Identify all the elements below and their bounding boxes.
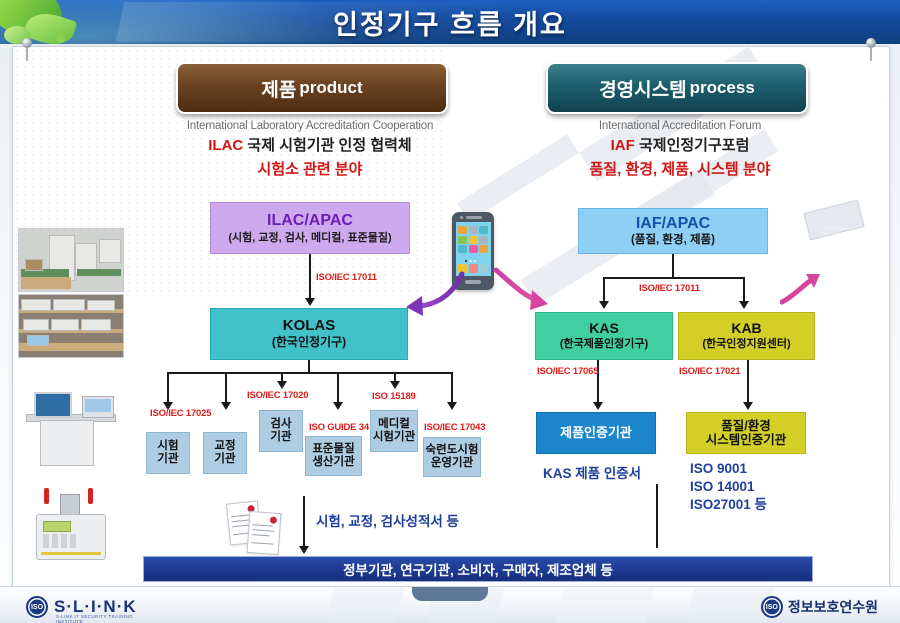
stakeholders-bar-text: 정부기관, 연구기관, 소비자, 구매자, 제조업체 등 (343, 559, 613, 579)
node-ilac-apac: ILAC/APAC (시험, 교정, 검사, 메디컬, 표준물질) (210, 202, 410, 254)
standard-label-17065: ISO/IEC 17065 (537, 366, 598, 377)
node-system-cert-title2: 시스템인증기관 (706, 433, 787, 447)
connector-branch-4 (337, 372, 339, 405)
caption-right-en: International Accreditation Forum (520, 120, 840, 132)
leaf-node-medical-lab: 메디컬 시험기관 (370, 410, 418, 452)
leaf-node-rm-producer: 표준물질 생산기관 (305, 436, 362, 476)
iso-list-item-1: ISO 9001 (690, 460, 767, 478)
node-kas-sub: (한국제품인정기구) (560, 338, 648, 351)
pill-product-en: product (299, 78, 362, 98)
footer-logo-subtext: S-LINK IT SECURITY TRAINING INSTITUTE (56, 614, 137, 623)
arrowhead (221, 402, 231, 410)
caption-right-red: 품질, 환경, 제품, 시스템 분야 (520, 158, 840, 179)
connector-ilac-kolas (309, 254, 311, 300)
leaf-1-line1: 시험 (157, 440, 178, 452)
title-banner: 인정기구 흐름 개요 (0, 0, 900, 44)
connector-branch-6 (451, 372, 453, 405)
pill-process-kr: 경영시스템 (599, 75, 686, 102)
arrowhead (593, 402, 603, 410)
node-iaf-apac: IAF/APAC (품질, 환경, 제품) (578, 208, 768, 254)
leaf-2-line1: 교정 (214, 440, 235, 452)
page-title: 인정기구 흐름 개요 (0, 0, 900, 44)
connector-branch-2 (225, 372, 227, 405)
leaf-5-line2: 시험기관 (373, 431, 415, 443)
caption-right-abbr: IAF (611, 137, 635, 154)
arrowhead (447, 402, 457, 410)
note-reports: 시험, 교정, 검사성적서 등 (316, 510, 459, 530)
instrument-photo-4 (28, 488, 112, 560)
arrowhead (390, 381, 400, 389)
instrument-photo-3 (22, 390, 118, 468)
arrowhead (599, 301, 609, 309)
standard-label-17021: ISO/IEC 17021 (679, 366, 740, 377)
building-icon (852, 244, 874, 310)
slide-root: 인정기구 흐름 개요 제품 product 경영시스템 process Inte… (0, 0, 900, 623)
node-system-cert-title: 품질/환경 (721, 419, 770, 433)
leaf-4-line2: 생산기관 (312, 456, 354, 468)
connector-reports-to-stakeholders (303, 496, 305, 548)
header-pill-process: 경영시스템 process (546, 62, 808, 114)
leaf-2-line2: 기관 (214, 453, 235, 465)
arrow-to-buildings-icon (780, 272, 830, 312)
standard-label-17025: ISO/IEC 17025 (150, 408, 211, 419)
node-iaf-apac-sub: (품질, 환경, 제품) (631, 234, 715, 247)
iso-list-item-2: ISO 14001 (690, 478, 767, 496)
phone-app-grid (458, 226, 488, 253)
pill-process-en: process (690, 78, 755, 98)
caption-right-kr: IAF 국제인정기구포럼 (520, 134, 840, 155)
node-kab-sub: (한국인정지원센터) (702, 338, 790, 351)
pin-icon (866, 38, 876, 60)
node-kas-title: KAS (589, 321, 619, 337)
note-kas-certificate: KAS 제품 인증서 (543, 462, 641, 482)
caption-left: International Laboratory Accreditation C… (150, 120, 470, 179)
leaf-node-inspection-body: 검사 기관 (259, 410, 303, 452)
caption-left-kr-text: 국제 시험기관 인정 협력체 (247, 137, 411, 154)
connector-iaf-kab (743, 277, 745, 303)
node-kolas-title: KOLAS (283, 318, 336, 335)
connector-cert-to-stakeholders (656, 484, 658, 548)
leaf-4-line1: 표준물질 (312, 443, 354, 455)
standard-label-17011-right: ISO/IEC 17011 (639, 283, 700, 294)
leaf-6-line2: 운영기관 (431, 457, 473, 469)
leaf-node-calibration-lab: 교정 기관 (203, 432, 247, 474)
iso-list-item-3: ISO27001 등 (690, 496, 767, 514)
connector-iaf-trunk (672, 254, 674, 278)
caption-right-kr-text: 국제인정기구포럼 (639, 137, 749, 154)
node-ilac-apac-sub: (시험, 교정, 검사, 메디컬, 표준물질) (228, 232, 391, 245)
phone-page-dots (465, 260, 477, 263)
footer-logo-slink: ISO S·L·I·N·K S-LINK IT SECURITY TRAININ… (26, 596, 137, 618)
connector-branch-1 (167, 372, 169, 405)
leaf-3-line1: 검사 (270, 418, 291, 430)
arrow-phone-to-kolas-icon (400, 270, 470, 330)
node-kab-title: KAB (731, 321, 761, 337)
standard-label-guide34: ISO GUIDE 34 (309, 422, 369, 433)
connector-kolas-bus (167, 372, 452, 374)
arrowhead (277, 381, 287, 389)
leaf-6-line1: 숙련도시험 (426, 444, 479, 456)
leaf-3-line2: 기관 (270, 431, 291, 443)
institute-seal-icon: ISO (761, 596, 783, 618)
lab-photo-2 (18, 294, 124, 358)
iso-seal-icon: ISO (26, 596, 48, 618)
node-kolas: KOLAS (한국인정기구) (210, 308, 408, 360)
footer-institute: ISO 정보보호연수원 (761, 596, 878, 618)
standard-label-15189: ISO 15189 (372, 391, 416, 402)
node-ilac-apac-title: ILAC/APAC (267, 212, 353, 230)
node-kab: KAB (한국인정지원센터) (678, 312, 815, 360)
arrowhead (739, 301, 749, 309)
arrowhead (305, 298, 315, 306)
standard-label-17043: ISO/IEC 17043 (424, 422, 485, 433)
node-iaf-apac-title: IAF/APAC (636, 215, 710, 233)
arrowhead (743, 402, 753, 410)
standard-label-17011-left: ISO/IEC 17011 (316, 272, 377, 283)
caption-right: International Accreditation Forum IAF 국제… (520, 120, 840, 179)
leaf-1-line2: 기관 (157, 453, 178, 465)
leaf-5-line1: 메디컬 (378, 418, 410, 430)
caption-left-en: International Laboratory Accreditation C… (150, 120, 470, 132)
leaf-node-test-lab: 시험 기관 (146, 432, 190, 474)
lab-photo-1 (18, 228, 124, 292)
connector-iaf-bus (603, 277, 743, 279)
header-pill-product: 제품 product (176, 62, 448, 114)
stakeholders-bar: 정부기관, 연구기관, 소비자, 구매자, 제조업체 등 (143, 556, 813, 582)
arrowhead (333, 402, 343, 410)
node-system-cert-body: 품질/환경 시스템인증기관 (686, 412, 806, 454)
node-product-cert-body: 제품인증기관 (536, 412, 656, 454)
connector-kab-to-cert (747, 360, 749, 404)
node-product-cert-title: 제품인증기관 (560, 426, 632, 441)
standard-label-17020: ISO/IEC 17020 (247, 390, 308, 401)
note-iso-list: ISO 9001 ISO 14001 ISO27001 등 (690, 460, 767, 515)
caption-left-red: 시험소 관련 분야 (150, 158, 470, 179)
arrow-phone-to-kas-icon (492, 262, 562, 322)
caption-left-kr: ILAC 국제 시험기관 인정 협력체 (150, 134, 470, 155)
pin-icon (22, 38, 32, 60)
footer-institute-text: 정보보호연수원 (788, 597, 878, 617)
connector-iaf-kas (603, 277, 605, 303)
pill-product-kr: 제품 (261, 75, 296, 102)
leaf-node-pt-provider: 숙련도시험 운영기관 (423, 437, 481, 477)
caption-left-abbr: ILAC (208, 137, 243, 154)
certificate-doc-icon (247, 511, 282, 555)
arrowhead (299, 546, 309, 554)
node-kolas-sub: (한국인정기구) (272, 336, 346, 350)
